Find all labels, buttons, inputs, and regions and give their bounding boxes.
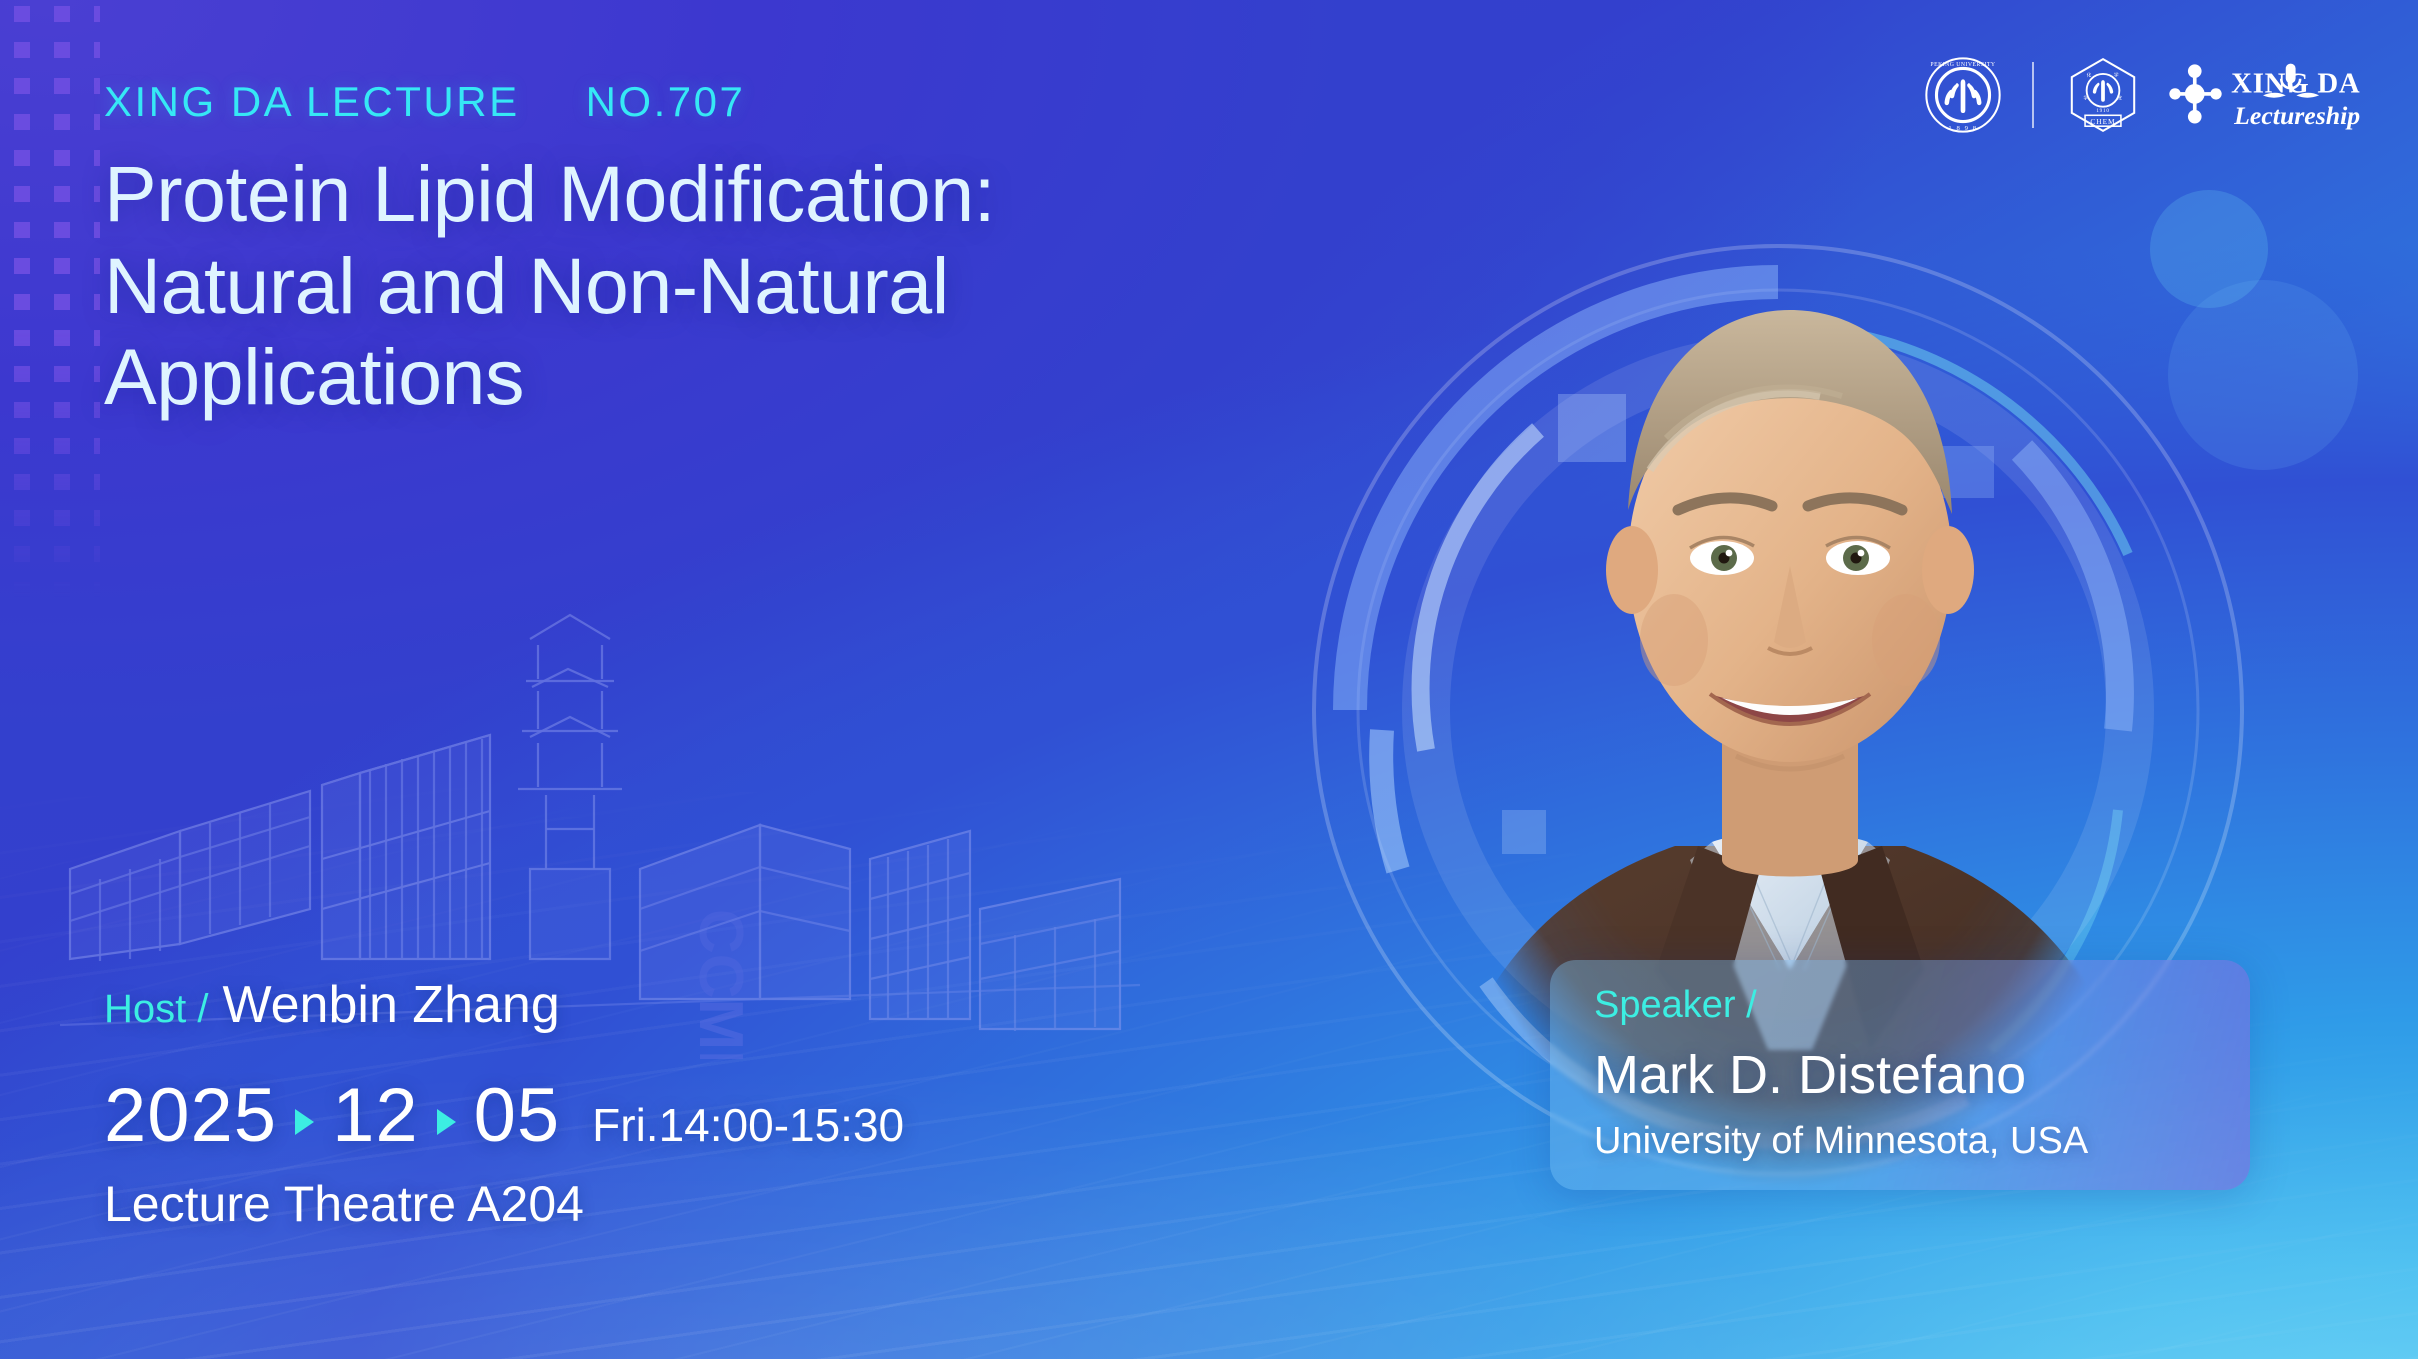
event-time: Fri.14:00-15:30 (592, 1098, 904, 1152)
lecture-poster: CCME XING DA LECTURE NO.707 (0, 0, 2418, 1359)
title-line-1: Protein Lipid Modification: (104, 148, 1284, 240)
page-title: Protein Lipid Modification: Natural and … (104, 148, 1284, 423)
speaker-affiliation: University of Minnesota, USA (1594, 1120, 2088, 1163)
host-name: Wenbin Zhang (222, 975, 559, 1035)
event-month: 12 (332, 1078, 419, 1154)
event-date-line: 2025 12 05 Fri.14:00-15:30 (104, 1078, 904, 1154)
speaker-name: Mark D. Distefano (1594, 1044, 2026, 1106)
event-year: 2025 (104, 1078, 277, 1154)
host-label: Host / (104, 987, 208, 1032)
building-ccme-text: CCME (686, 909, 755, 1059)
host-line: Host / Wenbin Zhang (104, 975, 560, 1035)
dot-grid-decoration (14, 6, 100, 616)
lecture-series-label: XING DA LECTURE (104, 78, 520, 126)
campus-building-illustration: CCME (60, 439, 1140, 1059)
title-line-2: Natural and Non-Natural (104, 240, 1284, 332)
event-venue: Lecture Theatre A204 (104, 1175, 584, 1233)
triangle-separator-icon (295, 1109, 314, 1135)
triangle-separator-icon-2 (437, 1109, 456, 1135)
event-day: 05 (474, 1078, 561, 1154)
speaker-portrait-area: Speaker / Mark D. Distefano University o… (1228, 60, 2348, 1320)
speaker-info-card: Speaker / Mark D. Distefano University o… (1550, 960, 2250, 1190)
title-line-3: Applications (104, 331, 1284, 423)
speaker-label: Speaker / (1594, 984, 1757, 1027)
lecture-kicker: XING DA LECTURE NO.707 (104, 78, 745, 126)
lecture-number-label: NO.707 (586, 78, 746, 126)
